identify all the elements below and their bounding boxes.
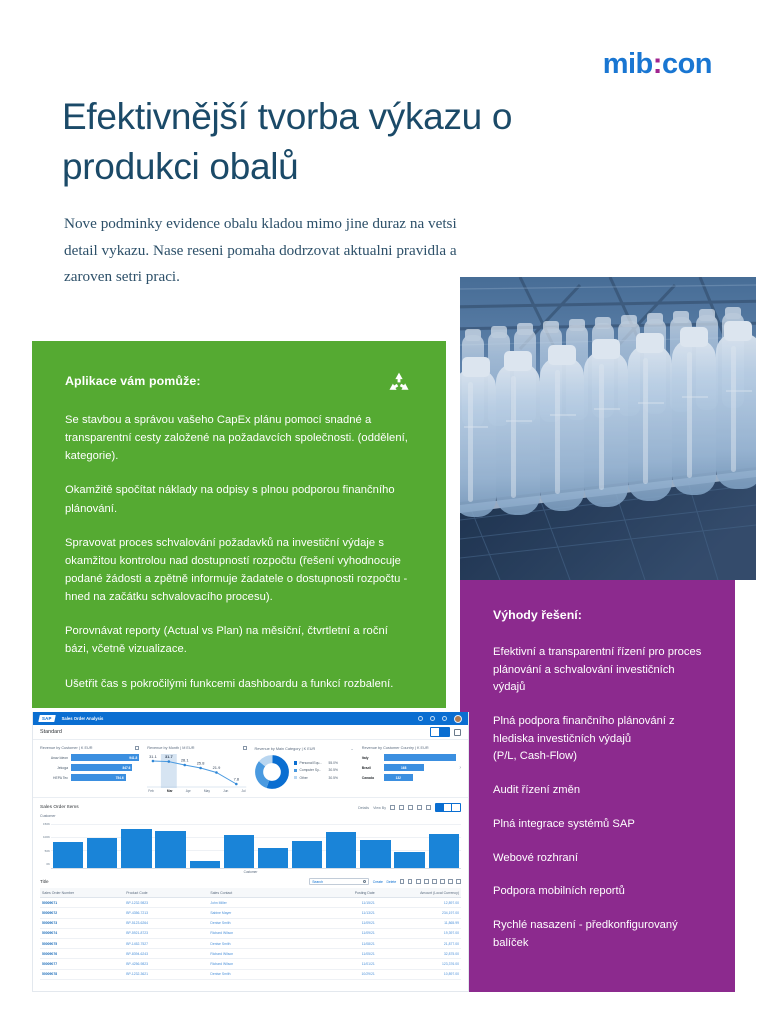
logo-post: con xyxy=(662,48,712,80)
bar[interactable] xyxy=(394,852,424,868)
col-posting-date[interactable]: Posting Date xyxy=(293,888,377,898)
cell-order-number: 50009077 xyxy=(40,959,124,969)
cell-amount: 11,865.99 xyxy=(377,918,461,928)
bar-row: Canada 132 › xyxy=(362,774,461,781)
cell-sales-contact: Denise Smith xyxy=(208,969,292,979)
legend-label: Computer Sy... xyxy=(300,768,322,772)
sales-orders-table-section: Title Search Create Delete xyxy=(33,874,468,980)
cell-posting-date: 11/01/21 xyxy=(293,959,377,969)
cell-posting-date: 10/29/21 xyxy=(293,969,377,979)
zoom-in-icon[interactable] xyxy=(399,805,404,810)
benefits-green-panel: Aplikace vám pomůže: Se stavbou a správo… xyxy=(32,341,446,708)
sales-bar-chart: 150K 100K 50K 0K xyxy=(40,821,461,869)
bar-track: 754.6 xyxy=(71,774,139,781)
cell-amount: 32,875.00 xyxy=(377,949,461,959)
search-input[interactable]: Search xyxy=(309,878,369,885)
create-button[interactable]: Create xyxy=(373,880,383,884)
view-toggle-group[interactable] xyxy=(430,727,450,737)
cell-amount: 19,397.00 xyxy=(377,928,461,938)
page-title: Efektivnější tvorba výkazu o produkci ob… xyxy=(62,92,622,193)
y-tick: 100K xyxy=(43,835,50,839)
cell-product-code: BP-1452-7527 xyxy=(124,938,208,948)
chevron-down-icon[interactable]: ⌄ xyxy=(350,746,353,751)
cell-order-number: 50009075 xyxy=(40,938,124,948)
open-in-new-icon[interactable] xyxy=(243,746,247,750)
filter-icon[interactable] xyxy=(416,879,421,884)
kpi-header: Revenue by Customer Country | K EUR xyxy=(362,746,461,750)
bar-chart-icon[interactable] xyxy=(436,804,444,811)
cell-posting-date: 11/09/21 xyxy=(293,928,377,938)
hero-photo xyxy=(460,277,756,580)
line-chart-axis: Feb Mar Apr May Jun Jul xyxy=(147,789,246,793)
settings-icon[interactable] xyxy=(417,805,422,810)
bar[interactable] xyxy=(360,840,390,868)
sap-shell-header: SAP Sales Order Analysis xyxy=(33,712,468,725)
variant-selector[interactable]: Standard xyxy=(40,729,62,735)
bar-label: Canada xyxy=(362,776,381,780)
chart-type-toggle[interactable] xyxy=(435,803,461,812)
table-row[interactable]: 50009071 BP-1232-9823 John Miller 11/15/… xyxy=(40,898,461,908)
purple-item: Efektivní a transparentní řízení pro pro… xyxy=(493,644,709,697)
line-chart: 31.1 31.7 28.1 25.8 21.9 7.8 xyxy=(147,754,246,788)
legend-label: Personal Equ... xyxy=(300,761,323,765)
settings-icon[interactable] xyxy=(430,716,435,721)
bar-value: 847.6 xyxy=(71,764,132,771)
bar-row: HEPA Tec 754.6 xyxy=(40,774,139,781)
line-chart-icon[interactable] xyxy=(452,804,460,811)
green-panel-title: Aplikace vám pomůže: xyxy=(65,374,412,388)
svg-text:31.1: 31.1 xyxy=(149,754,157,759)
search-icon[interactable] xyxy=(363,880,367,884)
kpi-revenue-by-month: Revenue by Month | M EUR 31.1 xyxy=(147,746,246,793)
kpi-header: Revenue by Main Category | K EUR ⌄ xyxy=(255,746,354,751)
search-icon[interactable] xyxy=(418,716,423,721)
bar-value: 941.8 xyxy=(71,754,139,761)
axis-tick: Jun xyxy=(223,789,228,793)
legend-value: 55.0% xyxy=(325,761,338,765)
bar[interactable] xyxy=(87,838,117,868)
fullscreen-icon[interactable] xyxy=(456,879,461,884)
purple-item: Audit řízení změn xyxy=(493,782,709,800)
details-link[interactable]: Details xyxy=(358,806,369,810)
share-icon[interactable] xyxy=(454,729,461,736)
col-sales-contact[interactable]: Sales Contact xyxy=(208,888,292,898)
kpi-revenue-by-main-category: Revenue by Main Category | K EUR ⌄ Perso… xyxy=(255,746,354,793)
bar-label: Brazil xyxy=(362,766,381,770)
copy-icon[interactable] xyxy=(400,879,405,884)
fullscreen-icon[interactable] xyxy=(426,805,431,810)
cell-amount: 234,197.00 xyxy=(377,908,461,918)
cell-posting-date: 11/13/21 xyxy=(293,908,377,918)
logo-colon: : xyxy=(653,48,662,80)
green-item: Ušetřit čas s pokročilými funkcemi dashb… xyxy=(65,675,412,693)
cell-amount: 21,877.00 xyxy=(377,938,461,948)
cell-amount: 10,897.00 xyxy=(377,969,461,979)
bar[interactable] xyxy=(258,848,288,868)
legend-label: Other xyxy=(300,776,308,780)
kpi-cards-row: Revenue by Customer | K EUR Anav Ideon 9… xyxy=(33,740,468,797)
bar-row: Brazil 168 › xyxy=(362,764,461,771)
table-row[interactable]: 50009072 BP-4356-7213 Sabine Mayer 11/13… xyxy=(40,908,461,918)
avatar[interactable] xyxy=(454,715,462,723)
cell-product-code: BP-1232-3621 xyxy=(124,969,208,979)
stacked-chart-icon[interactable] xyxy=(444,804,452,811)
sales-orders-table: Sales Order Number Product Code Sales Co… xyxy=(40,888,461,980)
cell-posting-date: 11/05/21 xyxy=(293,949,377,959)
legend-value: 30.5% xyxy=(325,776,338,780)
bar[interactable] xyxy=(429,834,459,868)
axis-tick: Jul xyxy=(241,789,245,793)
plot-area xyxy=(51,821,461,869)
bar-label: Jekoga xyxy=(40,766,68,770)
y-tick: 50K xyxy=(45,849,50,853)
cell-product-code: BP-4256-9823 xyxy=(124,959,208,969)
svg-text:25.8: 25.8 xyxy=(197,760,205,765)
cell-sales-contact: Richard Wilson xyxy=(208,949,292,959)
green-panel-list: Se stavbou a správou vašeho CapEx plánu … xyxy=(65,411,412,693)
delete-button[interactable]: Delete xyxy=(386,880,396,884)
svg-text:31.7: 31.7 xyxy=(165,754,173,759)
green-item: Spravovat proces schvalování požadavků n… xyxy=(65,534,412,607)
table-header-row: Sales Order Number Product Code Sales Co… xyxy=(40,888,461,898)
green-item: Okamžitě spočítat náklady na odpisy s pl… xyxy=(65,481,412,517)
sap-header-actions xyxy=(418,715,462,723)
bar[interactable] xyxy=(155,831,185,868)
table-view-icon[interactable] xyxy=(431,728,440,736)
legend-item: Other 30.5% xyxy=(294,776,338,780)
bar-row: Anav Ideon 941.8 xyxy=(40,754,139,761)
kpi-header: Revenue by Month | M EUR xyxy=(147,746,246,750)
view-by-link[interactable]: View By xyxy=(373,806,386,810)
sap-app-title: Sales Order Analysis xyxy=(62,716,104,721)
col-product-code[interactable]: Product Code xyxy=(124,888,208,898)
bar[interactable] xyxy=(326,832,356,868)
chevron-right-icon[interactable]: › xyxy=(459,765,461,771)
zoom-out-icon[interactable] xyxy=(408,805,413,810)
purple-item: Rychlé nasazení - předkonfigurovaný balí… xyxy=(493,917,709,952)
cell-order-number: 50009074 xyxy=(40,928,124,938)
svg-text:7.8: 7.8 xyxy=(234,776,240,781)
donut-legend: Personal Equ... 55.0% Computer Sy... 30.… xyxy=(294,761,338,783)
bar-value: 754.6 xyxy=(71,774,126,781)
kpi-title: Revenue by Customer Country | K EUR xyxy=(362,746,429,750)
cell-product-code: BP-5123-6264 xyxy=(124,918,208,928)
kpi-revenue-by-customer: Revenue by Customer | K EUR Anav Ideon 9… xyxy=(40,746,139,793)
cell-order-number: 50009072 xyxy=(40,908,124,918)
bar-value: 168 xyxy=(384,764,424,771)
cell-amount: 123,376.00 xyxy=(377,959,461,969)
logo-pre: mib xyxy=(603,48,653,80)
cell-order-number: 50009071 xyxy=(40,898,124,908)
green-item: Se stavbou a správou vašeho CapEx plánu … xyxy=(65,411,412,465)
kpi-title: Revenue by Month | M EUR xyxy=(147,746,194,750)
col-amount[interactable]: Amount (Local Currency) xyxy=(377,888,461,898)
brand-logo: mib:con xyxy=(603,50,712,79)
page-subtitle: Nove podminky evidence obalu kladou mimo… xyxy=(64,211,464,291)
y-tick: 150K xyxy=(43,822,50,826)
bar-track: 847.6 xyxy=(71,764,139,771)
cell-order-number: 50009076 xyxy=(40,949,124,959)
table-row[interactable]: 50009073 BP-5123-6264 Denise Smith 11/09… xyxy=(40,918,461,928)
legend-swatch xyxy=(294,761,298,765)
table-actions: Search Create Delete xyxy=(309,878,461,885)
search-placeholder: Search xyxy=(312,880,323,884)
purple-item: Webové rozhraní xyxy=(493,850,709,868)
cell-sales-contact: Richard Wilson xyxy=(208,959,292,969)
purple-item: Plná integrace systémů SAP xyxy=(493,816,709,834)
bar[interactable] xyxy=(190,861,220,868)
sap-dashboard-screenshot: SAP Sales Order Analysis Standard xyxy=(32,712,469,992)
cell-sales-contact: Richard Wilson xyxy=(208,928,292,938)
bar[interactable] xyxy=(224,835,254,868)
sort-icon[interactable] xyxy=(408,879,413,884)
table-title: Title xyxy=(40,879,49,884)
settings-icon[interactable] xyxy=(432,879,437,884)
bottles-illustration xyxy=(460,277,756,580)
personalize-icon[interactable] xyxy=(448,879,453,884)
section-toolbar: Details View By xyxy=(358,803,461,812)
svg-text:28.1: 28.1 xyxy=(181,757,189,762)
svg-text:21.9: 21.9 xyxy=(213,765,221,770)
bar-track: 941.8 xyxy=(71,754,139,761)
bar-track: 132 xyxy=(384,774,457,781)
group-icon[interactable] xyxy=(424,879,429,884)
sales-order-items-section: Sales Order Items Details View By xyxy=(33,797,468,874)
legend-item: Computer Sy... 30.5% xyxy=(294,768,338,772)
table-row[interactable]: 50009078 BP-1232-3621 Denise Smith 10/29… xyxy=(40,969,461,979)
bar[interactable] xyxy=(121,829,151,868)
bar-row: Jekoga 847.6 xyxy=(40,764,139,771)
cell-posting-date: 11/09/21 xyxy=(293,918,377,928)
bar[interactable] xyxy=(292,841,322,868)
purple-item: Podpora mobilních reportů xyxy=(493,883,709,901)
donut-chart-wrap: Personal Equ... 55.0% Computer Sy... 30.… xyxy=(255,755,354,789)
legend-value: 30.5% xyxy=(325,768,338,772)
purple-panel-list: Efektivní a transparentní řízení pro pro… xyxy=(493,644,709,952)
legend-swatch xyxy=(294,769,298,773)
bar-value: 132 xyxy=(384,774,413,781)
axis-tick: Apr xyxy=(186,789,191,793)
sap-variant-bar: Standard xyxy=(33,725,468,740)
advantages-purple-panel: Výhody řešení: Efektivní a transparentní… xyxy=(460,580,735,992)
purple-panel-title: Výhody řešení: xyxy=(493,608,709,622)
export-icon[interactable] xyxy=(440,879,445,884)
table-row[interactable]: 50009076 BP-8394-6243 Richard Wilson 11/… xyxy=(40,949,461,959)
cell-order-number: 50009078 xyxy=(40,969,124,979)
view-controls xyxy=(430,727,461,737)
bar-track xyxy=(384,754,457,761)
bar-label: Anav Ideon xyxy=(40,756,68,760)
open-in-new-icon[interactable] xyxy=(135,746,139,750)
cell-posting-date: 11/08/21 xyxy=(293,938,377,948)
cell-product-code: BP-4356-7213 xyxy=(124,908,208,918)
cell-amount: 12,897.00 xyxy=(377,898,461,908)
bar-row: Italy › xyxy=(362,754,461,761)
donut-chart xyxy=(255,755,289,789)
kpi-header: Revenue by Customer | K EUR xyxy=(40,746,139,750)
cell-product-code: BP-1232-9823 xyxy=(124,898,208,908)
sap-logo: SAP xyxy=(38,715,55,722)
table-row[interactable]: 50009074 BP-5921-8723 Richard Wilson 11/… xyxy=(40,928,461,938)
cell-posting-date: 11/15/21 xyxy=(293,898,377,908)
bar-label: HEPA Tec xyxy=(40,776,68,780)
bar-label: Italy xyxy=(362,756,381,760)
y-axis: 150K 100K 50K 0K xyxy=(40,821,51,869)
cell-order-number: 50009073 xyxy=(40,918,124,928)
cell-sales-contact: John Miller xyxy=(208,898,292,908)
chart-view-icon[interactable] xyxy=(440,728,449,736)
y-tick: 0K xyxy=(46,862,50,866)
chart-dimension-label: Customer xyxy=(40,814,461,818)
green-item: Porovnávat reporty (Actual vs Plan) na m… xyxy=(65,622,412,658)
axis-tick: Feb xyxy=(148,789,154,793)
legend-item: Personal Equ... 55.0% xyxy=(294,761,338,765)
cell-sales-contact: Sabine Mayer xyxy=(208,908,292,918)
section-header: Sales Order Items Details View By xyxy=(40,803,461,812)
recycle-icon xyxy=(385,371,413,397)
table-body: 50009071 BP-1232-9823 John Miller 11/15/… xyxy=(40,898,461,980)
axis-tick: Mar xyxy=(167,789,173,793)
legend-swatch xyxy=(294,776,298,780)
bar[interactable] xyxy=(53,842,83,868)
measures-icon[interactable] xyxy=(390,805,395,810)
table-toolbar: Title Search Create Delete xyxy=(40,878,461,888)
cell-sales-contact: Denise Smith xyxy=(208,938,292,948)
notification-icon[interactable] xyxy=(442,716,447,721)
col-sales-order-number[interactable]: Sales Order Number xyxy=(40,888,124,898)
purple-item: Plná podpora finančního plánování z hled… xyxy=(493,713,709,766)
table-row[interactable]: 50009075 BP-1452-7527 Denise Smith 11/08… xyxy=(40,938,461,948)
section-title: Sales Order Items xyxy=(40,805,79,810)
kpi-title: Revenue by Main Category | K EUR xyxy=(255,747,316,751)
axis-tick: May xyxy=(204,789,210,793)
poster-page: mib:con Efektivnější tvorba výkazu o pro… xyxy=(0,0,767,1024)
bar-value xyxy=(384,754,457,761)
bar-track: 168 xyxy=(384,764,457,771)
kpi-revenue-by-customer-country: Revenue by Customer Country | K EUR Ital… xyxy=(362,746,461,793)
bars xyxy=(51,821,461,868)
cell-product-code: BP-5921-8723 xyxy=(124,928,208,938)
kpi-title: Revenue by Customer | K EUR xyxy=(40,746,92,750)
cell-product-code: BP-8394-6243 xyxy=(124,949,208,959)
cell-sales-contact: Denise Smith xyxy=(208,918,292,928)
table-row[interactable]: 50009077 BP-4256-9823 Richard Wilson 11/… xyxy=(40,959,461,969)
